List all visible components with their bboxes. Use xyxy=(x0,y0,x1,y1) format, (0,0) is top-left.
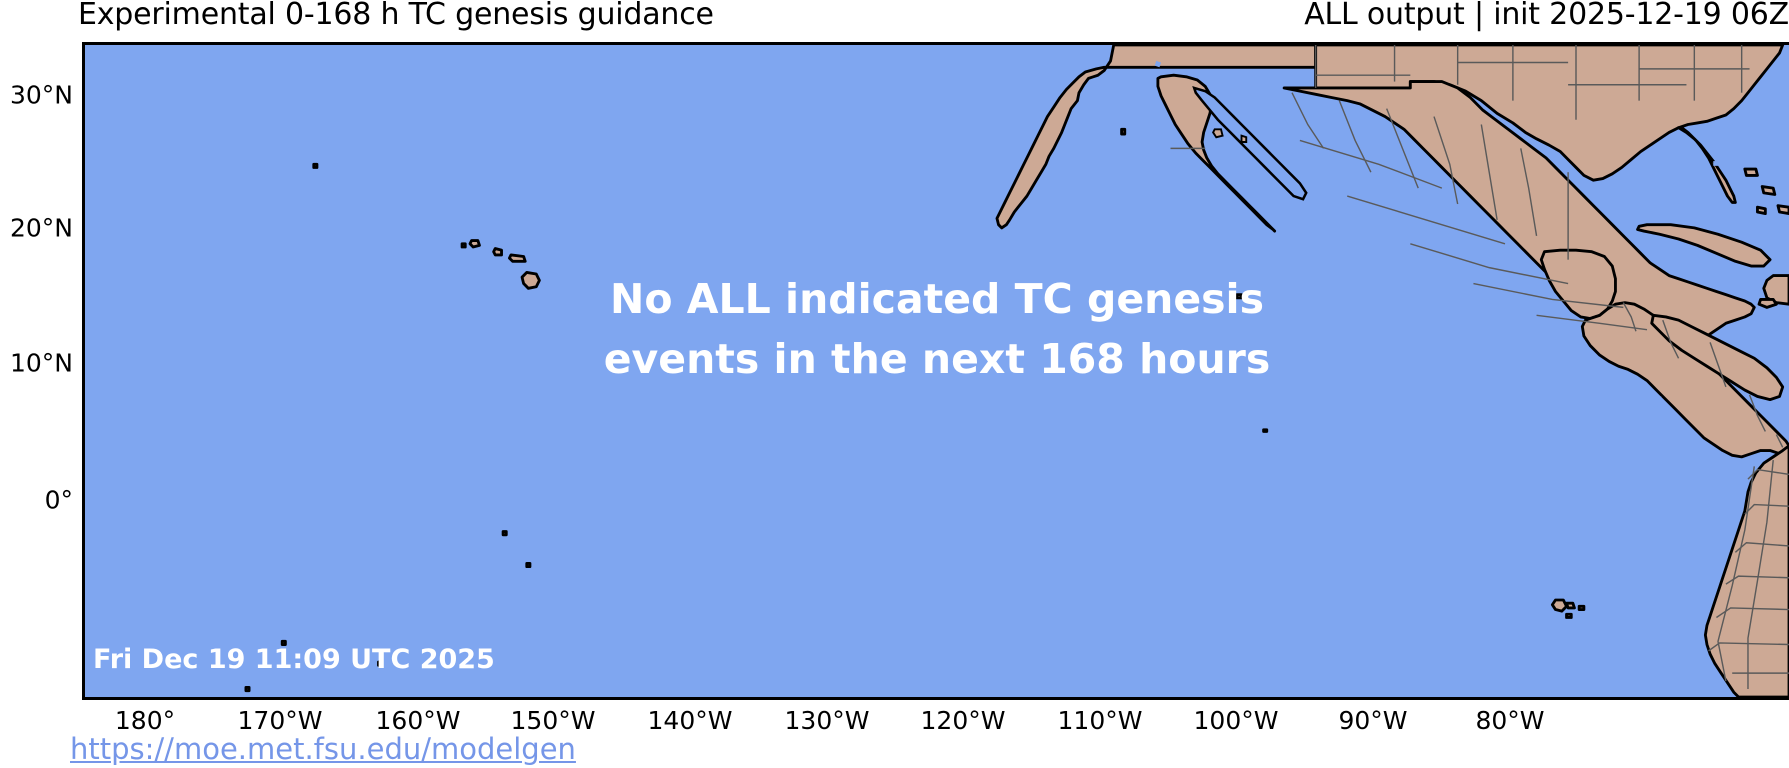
hawaii-molokai-maui xyxy=(509,255,525,261)
border-mx-state-2 xyxy=(1339,101,1371,173)
map-geography xyxy=(85,45,1789,697)
north-america-landmass xyxy=(997,45,1316,228)
revillagigedo-socorro xyxy=(1237,295,1242,298)
bahamas-3 xyxy=(1778,206,1789,214)
bahamas-4 xyxy=(1757,207,1765,213)
x-axis-tick-100w: 100°W xyxy=(1194,706,1279,735)
y-axis-tick-30n: 30°N xyxy=(10,81,73,110)
cuba xyxy=(1638,225,1771,266)
small-island-sw-3 xyxy=(246,687,249,690)
source-url-link[interactable]: https://moe.met.fsu.edu/modelgen xyxy=(70,732,576,766)
x-axis-tick-130w: 130°W xyxy=(785,706,870,735)
y-axis-tick-0: 0° xyxy=(45,486,73,515)
page-title: Experimental 0-168 h TC genesis guidance xyxy=(78,0,714,32)
y-axis-tick-20n: 20°N xyxy=(10,214,73,243)
page-subtitle-meta: ALL output | init 2025-12-19 06Z xyxy=(1304,0,1789,32)
bahamas xyxy=(1745,169,1758,175)
hawaii-niihau xyxy=(462,244,465,247)
x-axis-tick-80w: 80°W xyxy=(1475,706,1544,735)
lake-nicaragua xyxy=(1649,395,1663,408)
tc-genesis-guidance-page: Experimental 0-168 h TC genesis guidance… xyxy=(0,0,1789,768)
yucatan-peninsula xyxy=(1541,250,1615,318)
x-axis-tick-140w: 140°W xyxy=(648,706,733,735)
x-axis-tick-180: 180° xyxy=(115,706,175,735)
map-plot-area[interactable]: No ALL indicated TC genesis events in th… xyxy=(82,42,1789,700)
small-island-johnston xyxy=(314,164,317,167)
x-axis-tick-110w: 110°W xyxy=(1058,706,1143,735)
x-axis-tick-120w: 120°W xyxy=(921,706,1006,735)
jamaica xyxy=(1759,299,1776,307)
x-axis-tick-170w: 170°W xyxy=(238,706,323,735)
x-axis-tick-90w: 90°W xyxy=(1338,706,1407,735)
guadalupe-island xyxy=(1122,129,1125,134)
clipperton-island xyxy=(1264,430,1267,432)
galapagos-santacruz xyxy=(1567,603,1575,608)
hawaii-big-island xyxy=(522,272,539,288)
small-island-line-islands-2 xyxy=(527,563,530,566)
bahamas-2 xyxy=(1762,187,1775,195)
south-america xyxy=(1705,446,1789,697)
border-mx-state-1 xyxy=(1292,93,1324,149)
usa-southeast-florida xyxy=(1679,128,1736,203)
y-axis-tick-10n: 10°N xyxy=(10,349,73,378)
small-island-line-islands xyxy=(503,532,506,535)
lake-okeechobee xyxy=(1713,161,1718,166)
galapagos-san-cristobal xyxy=(1579,606,1584,609)
gulf-of-california xyxy=(1194,88,1306,199)
map-generation-timestamp: Fri Dec 19 11:09 UTC 2025 xyxy=(93,644,495,675)
hawaii-kauai xyxy=(470,241,479,247)
galapagos-isla-4 xyxy=(1567,614,1572,617)
galapagos-isabela xyxy=(1552,600,1566,611)
x-axis-tick-160w: 160°W xyxy=(376,706,461,735)
hawaii-oahu xyxy=(494,249,502,255)
x-axis-tick-150w: 150°W xyxy=(511,706,596,735)
isla-tiburon xyxy=(1213,129,1222,137)
isla-angel-guarda xyxy=(1242,136,1247,142)
